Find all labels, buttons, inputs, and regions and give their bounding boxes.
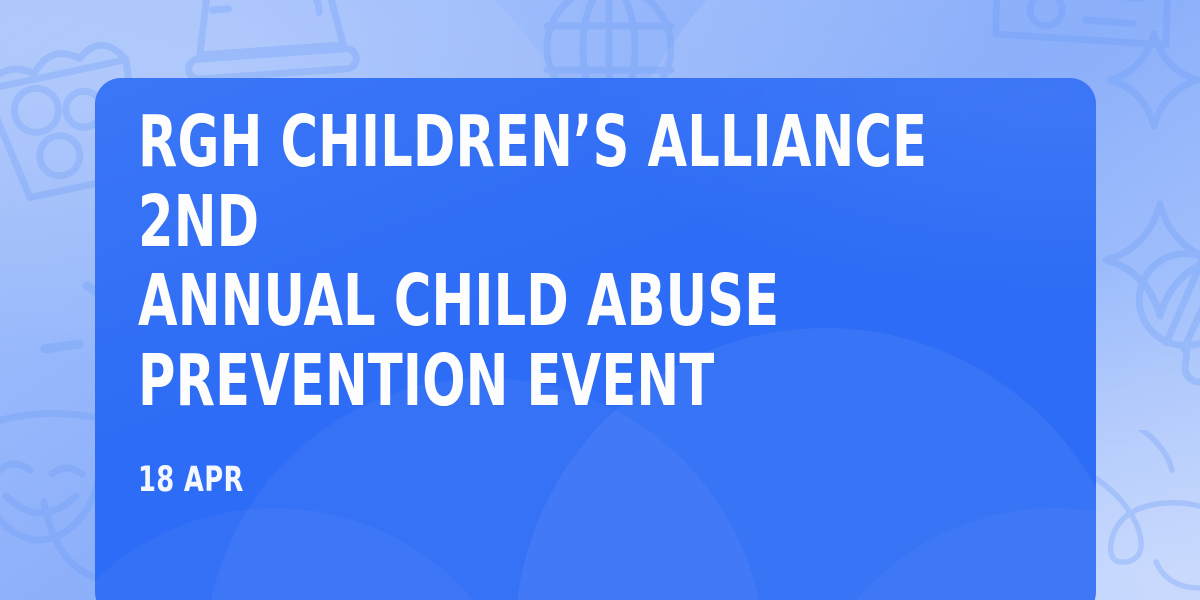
microphone-icon [1124,224,1200,424]
card-content: RGH CHILDREN’S ALLIANCE 2ND ANNUAL CHILD… [138,102,1056,498]
event-title: RGH CHILDREN’S ALLIANCE 2ND ANNUAL CHILD… [138,102,1056,420]
event-banner: RGH CHILDREN’S ALLIANCE 2ND ANNUAL CHILD… [0,0,1200,600]
sparkle-icon [1100,22,1200,138]
event-date: 18 APR [138,420,1056,498]
event-card: RGH CHILDREN’S ALLIANCE 2ND ANNUAL CHILD… [95,78,1096,600]
